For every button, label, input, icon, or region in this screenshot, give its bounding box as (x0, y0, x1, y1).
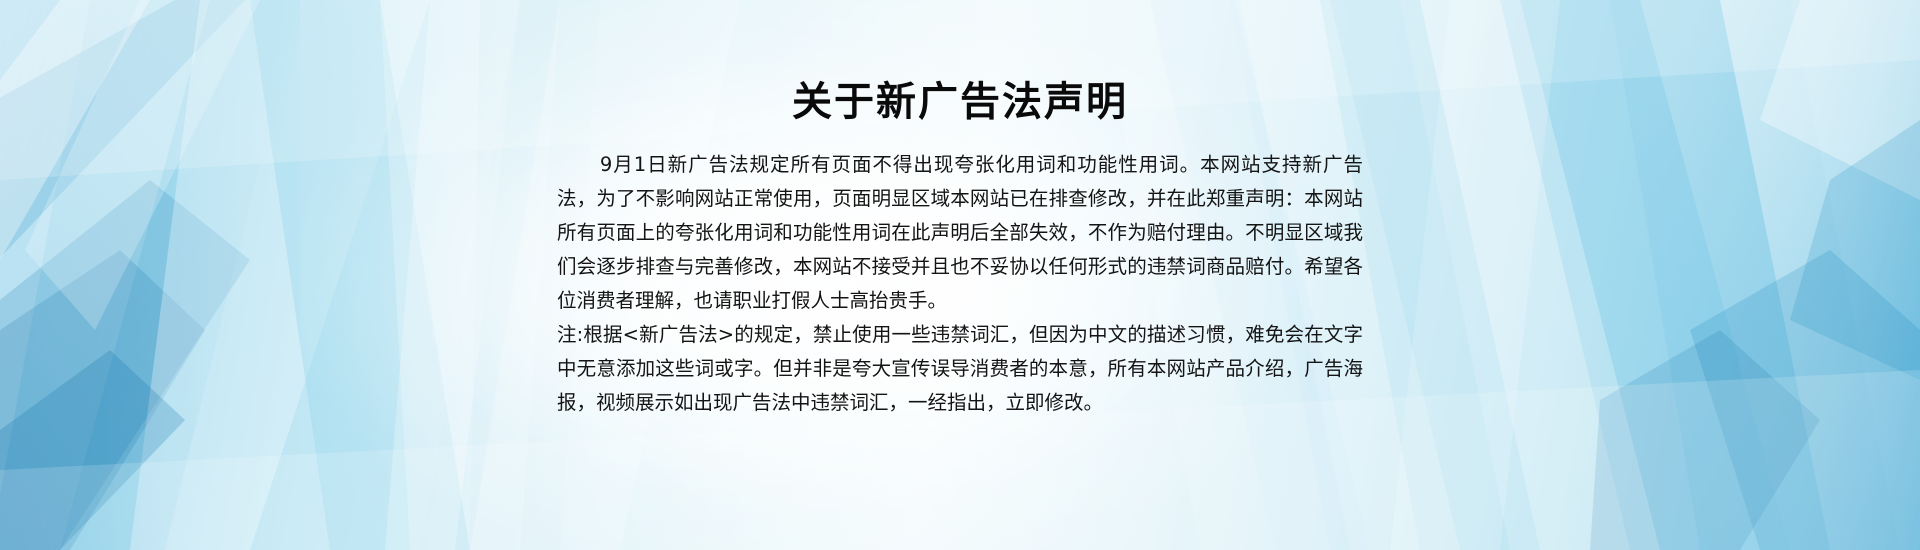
statement-content: 关于新广告法声明 9月1日新广告法规定所有页面不得出现夸张化用词和功能性用词。本… (0, 0, 1920, 550)
statement-body: 9月1日新广告法规定所有页面不得出现夸张化用词和功能性用词。本网站支持新广告法，… (557, 148, 1363, 420)
statement-paragraph-1: 9月1日新广告法规定所有页面不得出现夸张化用词和功能性用词。本网站支持新广告法，… (557, 148, 1363, 318)
statement-paragraph-2: 注:根据<新广告法>的规定，禁止使用一些违禁词汇，但因为中文的描述习惯，难免会在… (557, 318, 1363, 420)
advertising-law-statement-banner: 关于新广告法声明 9月1日新广告法规定所有页面不得出现夸张化用词和功能性用词。本… (0, 0, 1920, 550)
page-title: 关于新广告法声明 (792, 78, 1128, 126)
